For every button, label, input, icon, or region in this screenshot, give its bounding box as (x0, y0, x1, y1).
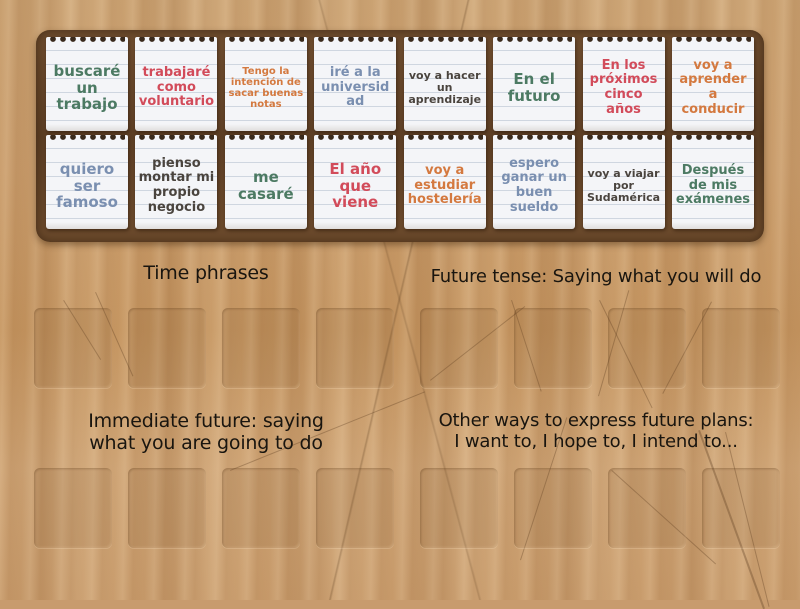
category-label-time-phrases: Time phrases (20, 262, 392, 284)
card-row-top: buscaré un trabajotrabajaré como volunta… (42, 37, 758, 135)
drop-zone[interactable] (420, 308, 498, 388)
drop-zone[interactable] (702, 468, 780, 548)
note-card-text: iré a la universidad (317, 66, 393, 110)
note-card[interactable]: voy a hacer un aprendizaje (404, 37, 486, 131)
note-card-text: voy a viajar por Sudamérica (586, 168, 662, 205)
drop-zone[interactable] (222, 468, 300, 548)
note-card-text: espero ganar un buen sueldo (496, 157, 572, 215)
card-row-bottom: quiero ser famosopienso montar mi propio… (42, 135, 758, 233)
note-card[interactable]: voy a aprender a conducir (672, 37, 754, 131)
note-card-text: En el futuro (496, 71, 572, 105)
note-card-text: voy a hacer un aprendizaje (407, 70, 483, 107)
drop-zone[interactable] (316, 308, 394, 388)
note-card[interactable]: El año que viene (314, 135, 396, 229)
category-label-future-tense: Future tense: Saying what you will do (400, 266, 792, 287)
drop-zone[interactable] (222, 308, 300, 388)
note-card-text: En los próximos cinco años (586, 59, 662, 117)
category-label-other-ways: Other ways to express future plans: I wa… (400, 410, 792, 452)
drop-zone[interactable] (34, 468, 112, 548)
card-tray: buscaré un trabajotrabajaré como volunta… (36, 30, 764, 242)
note-card[interactable]: voy a estudiar hostelería (404, 135, 486, 229)
drop-zone[interactable] (702, 308, 780, 388)
note-card-text: buscaré un trabajo (49, 63, 125, 113)
drop-zone[interactable] (420, 468, 498, 548)
drop-zone-group-future-tense (420, 308, 780, 388)
note-card[interactable]: En el futuro (493, 37, 575, 131)
note-card[interactable]: iré a la universidad (314, 37, 396, 131)
drop-zone[interactable] (514, 468, 592, 548)
note-card-text: trabajaré como voluntario (138, 66, 214, 110)
note-card[interactable]: espero ganar un buen sueldo (493, 135, 575, 229)
drop-zone-group-other-ways (420, 468, 780, 548)
drop-zone[interactable] (514, 308, 592, 388)
note-card[interactable]: voy a viajar por Sudamérica (583, 135, 665, 229)
drop-zone[interactable] (128, 468, 206, 548)
note-card-text: voy a aprender a conducir (675, 59, 751, 117)
note-card[interactable]: Tengo la intención de sacar buenas notas (225, 37, 307, 131)
drop-zone[interactable] (128, 308, 206, 388)
note-card[interactable]: me casaré (225, 135, 307, 229)
note-card[interactable]: buscaré un trabajo (46, 37, 128, 131)
category-label-immediate-future: Immediate future: saying what you are go… (20, 410, 392, 455)
note-card[interactable]: pienso montar mi propio negocio (135, 135, 217, 229)
note-card-text: Tengo la intención de sacar buenas notas (228, 66, 304, 111)
note-card-text: me casaré (228, 169, 304, 203)
note-card[interactable]: quiero ser famoso (46, 135, 128, 229)
note-card-text: Después de mis exámenes (675, 164, 751, 208)
note-card[interactable]: trabajaré como voluntario (135, 37, 217, 131)
note-card[interactable]: Después de mis exámenes (672, 135, 754, 229)
drop-zone-group-immediate-future (34, 468, 394, 548)
drop-zone[interactable] (608, 468, 686, 548)
drop-zone[interactable] (34, 308, 112, 388)
note-card-text: pienso montar mi propio negocio (138, 157, 214, 215)
note-card-text: El año que viene (317, 161, 393, 211)
drop-zone[interactable] (608, 308, 686, 388)
note-card-text: quiero ser famoso (49, 161, 125, 211)
drop-zone-group-time-phrases (34, 308, 394, 388)
note-card-text: voy a estudiar hostelería (407, 164, 483, 208)
note-card[interactable]: En los próximos cinco años (583, 37, 665, 131)
drop-zone[interactable] (316, 468, 394, 548)
